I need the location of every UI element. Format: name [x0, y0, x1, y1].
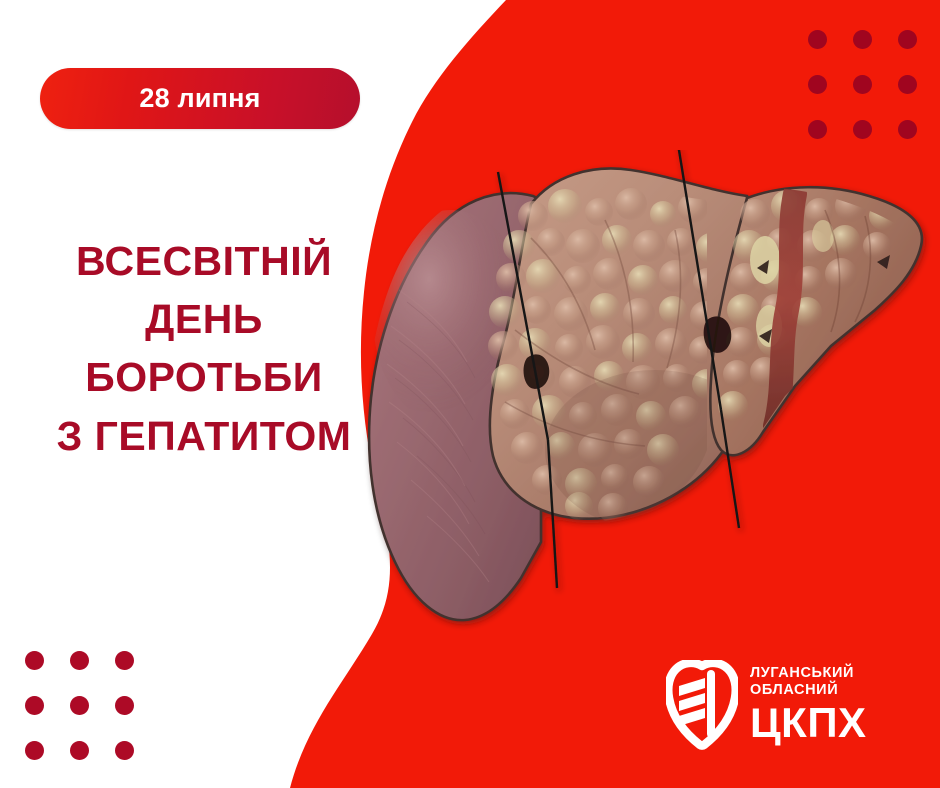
headline-line-3: БОРОТЬБИ [14, 348, 394, 406]
dot [70, 741, 89, 760]
dot [115, 651, 134, 670]
dot [115, 741, 134, 760]
dot [70, 651, 89, 670]
date-badge-label: 28 липня [139, 85, 260, 112]
dot [898, 120, 917, 139]
dot [808, 120, 827, 139]
shield-heart-icon [666, 660, 738, 750]
dot [25, 696, 44, 715]
headline-line-1: ВСЕСВІТНІЙ [14, 232, 394, 290]
date-badge: 28 липня [40, 68, 360, 129]
organization-logo: ЛУГАНСЬКИЙ ОБЛАСНИЙ ЦКПХ [666, 655, 906, 755]
dot [70, 696, 89, 715]
dot [853, 120, 872, 139]
headline-line-2: ДЕНЬ [14, 290, 394, 348]
poster-canvas: 28 липня ВСЕСВІТНІЙ ДЕНЬ БОРОТЬБИ З ГЕПА… [0, 0, 940, 788]
logo-subtitle-line-1: ЛУГАНСЬКИЙ [750, 665, 867, 682]
dot [25, 651, 44, 670]
dot [25, 741, 44, 760]
dot [853, 75, 872, 94]
dot [808, 30, 827, 49]
dot [898, 75, 917, 94]
dot [115, 696, 134, 715]
decorative-dot-grid-top-right [808, 30, 916, 138]
poster-headline: ВСЕСВІТНІЙ ДЕНЬ БОРОТЬБИ З ГЕПАТИТОМ [14, 232, 394, 465]
logo-acronym: ЦКПХ [750, 702, 867, 745]
decorative-dot-grid-bottom-left [25, 651, 133, 759]
logo-subtitle-line-2: ОБЛАСНИЙ [750, 682, 867, 699]
dot [853, 30, 872, 49]
logo-wordmark: ЛУГАНСЬКИЙ ОБЛАСНИЙ ЦКПХ [750, 665, 867, 745]
dot [808, 75, 827, 94]
headline-line-4: З ГЕПАТИТОМ [14, 407, 394, 465]
dot [898, 30, 917, 49]
